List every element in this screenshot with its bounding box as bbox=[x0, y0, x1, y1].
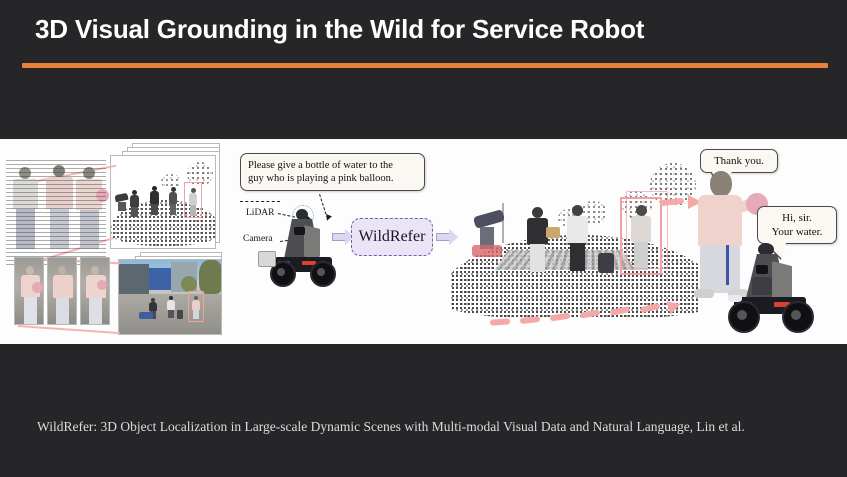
robot-panel-left bbox=[304, 225, 320, 257]
sensor-group-bracket-top bbox=[240, 201, 280, 202]
path-segment-6 bbox=[640, 303, 661, 314]
projection-line-rgb-bottom bbox=[18, 325, 120, 334]
path-segment-1 bbox=[490, 318, 510, 325]
pointcloud-target-bbox bbox=[184, 182, 202, 218]
robot-hub-front-left bbox=[277, 268, 285, 276]
figure-panel: Please give a bottle of water to the guy… bbox=[0, 139, 847, 344]
robot-reply-line-1: Hi, sir. bbox=[758, 211, 836, 225]
path-segment-5 bbox=[610, 306, 631, 316]
crop-thumbnail-1 bbox=[14, 257, 44, 325]
title-underline-rule bbox=[22, 63, 828, 68]
robot-camera-left bbox=[294, 227, 305, 235]
pointcloud-scene-frame bbox=[110, 155, 216, 249]
robot-reply-line-2: Your water. bbox=[758, 225, 836, 239]
user-request-line-2: guy who is playing a pink balloon. bbox=[248, 172, 417, 185]
pointcloud-people-silhouettes bbox=[6, 157, 106, 265]
figure-caption: WildRefer: 3D Object Localization in Lar… bbox=[37, 419, 745, 435]
wildrefer-module: WildRefer bbox=[351, 218, 433, 256]
scene-pole-1 bbox=[502, 203, 504, 243]
rgb-tree-mid bbox=[181, 276, 197, 292]
customer-head bbox=[710, 171, 732, 197]
thank-you-text: Thank you. bbox=[714, 154, 764, 168]
rgb-building-left bbox=[119, 264, 149, 294]
robot-hatch-right bbox=[752, 277, 772, 295]
crop-balloon-3 bbox=[97, 280, 107, 290]
robot-reply-bubble: Hi, sir. Your water. bbox=[757, 206, 837, 244]
lidar-sensor-left bbox=[296, 209, 308, 220]
rgb-street-object bbox=[139, 312, 153, 319]
robot-camera-right bbox=[756, 265, 768, 274]
robot-hub-rear-left bbox=[317, 268, 325, 276]
rgb-street-image bbox=[118, 259, 222, 335]
slide-root: 3D Visual Grounding in the Wild for Serv… bbox=[0, 0, 847, 477]
service-robot-right bbox=[724, 243, 820, 335]
path-segment-3 bbox=[550, 313, 571, 322]
silhouette-balloon bbox=[96, 189, 109, 202]
customer-shoe-left bbox=[694, 289, 714, 298]
user-request-line-1: Please give a bottle of water to the bbox=[248, 159, 417, 172]
scene-stroller bbox=[598, 253, 614, 273]
rgb-tree-right bbox=[199, 260, 222, 294]
service-robot-left bbox=[258, 205, 346, 289]
crop-thumbnail-3 bbox=[80, 257, 110, 325]
user-request-bubble: Please give a bottle of water to the guy… bbox=[240, 153, 425, 191]
thank-you-bubble: Thank you. bbox=[700, 149, 778, 173]
robot-navigation-path bbox=[490, 305, 730, 329]
robot-hub-rear-right bbox=[791, 310, 801, 320]
robot-panel-right bbox=[772, 261, 792, 298]
rgb-street-bin bbox=[177, 310, 183, 319]
crop-thumbnail-2 bbox=[47, 257, 77, 325]
rgb-target-bbox bbox=[188, 291, 204, 322]
path-segment-2 bbox=[520, 316, 541, 324]
scene-pointcloud bbox=[450, 157, 700, 317]
robot-hub-front-right bbox=[737, 310, 747, 320]
path-segment-4 bbox=[580, 309, 601, 318]
scene-walkway bbox=[495, 250, 636, 270]
page-title: 3D Visual Grounding in the Wild for Serv… bbox=[35, 14, 644, 45]
crop-balloon-1 bbox=[32, 282, 43, 293]
robot-basket-left bbox=[258, 251, 276, 267]
scene-person-1-bag bbox=[546, 227, 560, 238]
wildrefer-module-label: WildRefer bbox=[359, 228, 426, 246]
rgb-building-blue bbox=[149, 268, 171, 290]
